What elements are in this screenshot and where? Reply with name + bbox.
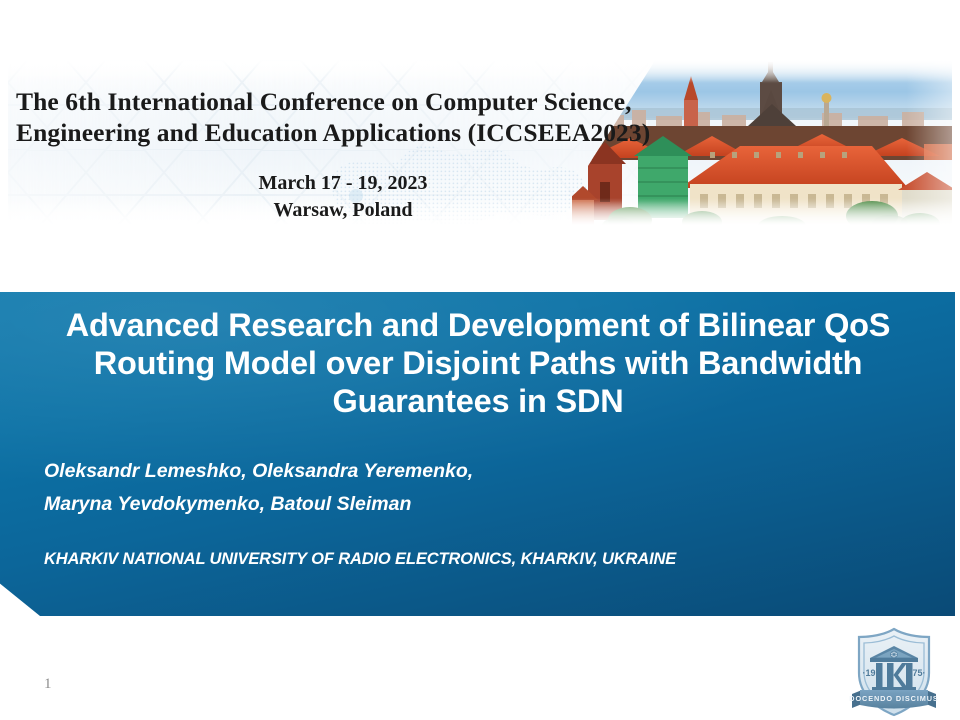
- conference-dates: March 17 - 19, 2023: [158, 170, 528, 197]
- authors-line-2: Maryna Yevdokymenko, Batoul Sleiman: [44, 488, 914, 521]
- university-crest-logo: ·19 75· DOCENDO DISCIMUS: [846, 626, 942, 718]
- conference-title-line-2: Engineering and Education Applications (…: [16, 117, 676, 148]
- authors-block: Oleksandr Lemeshko, Oleksandra Yeremenko…: [44, 455, 914, 521]
- page-title: Advanced Research and Development of Bil…: [28, 306, 928, 420]
- logo-motto-text: DOCENDO DISCIMUS: [849, 694, 938, 703]
- conference-title-line-1: The 6th International Conference on Comp…: [16, 86, 676, 117]
- authors-line-1: Oleksandr Lemeshko, Oleksandra Yeremenko…: [44, 455, 914, 488]
- affiliation-line: KHARKIV NATIONAL UNIVERSITY OF RADIO ELE…: [44, 550, 934, 569]
- conference-location: Warsaw, Poland: [158, 197, 528, 224]
- logo-year-right: 75·: [912, 668, 925, 678]
- conference-title: The 6th International Conference on Comp…: [16, 86, 676, 148]
- slide-number: 1: [44, 676, 52, 693]
- conference-header-banner: The 6th International Conference on Comp…: [8, 60, 952, 228]
- presentation-slide: The 6th International Conference on Comp…: [0, 0, 960, 720]
- title-band: Advanced Research and Development of Bil…: [0, 292, 955, 616]
- conference-date-location: March 17 - 19, 2023 Warsaw, Poland: [158, 170, 528, 224]
- motto-ribbon: DOCENDO DISCIMUS: [849, 690, 938, 709]
- logo-year-left: ·19: [862, 668, 875, 678]
